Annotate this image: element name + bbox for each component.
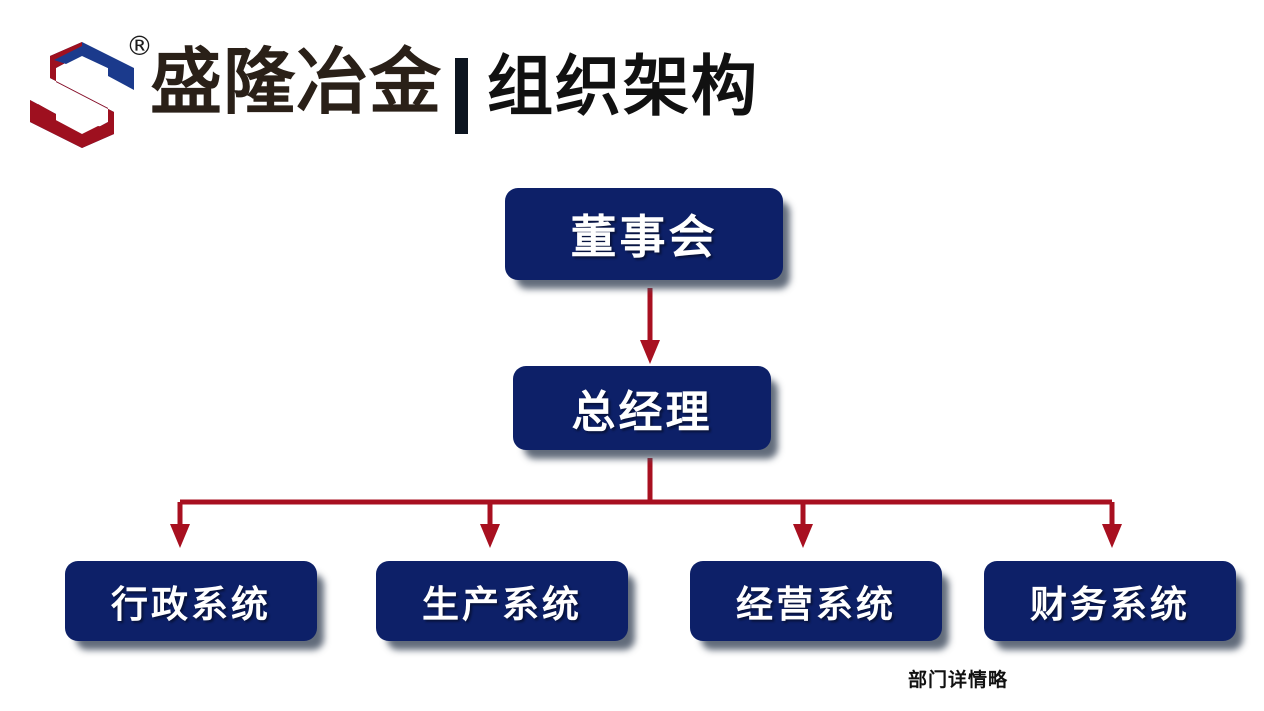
footer-note: 部门详情略 bbox=[908, 671, 1008, 690]
org-node-general-manager-label: 总经理 bbox=[572, 376, 713, 440]
arrowhead-admin bbox=[170, 524, 190, 548]
org-node-production-label: 生产系统 bbox=[422, 574, 582, 628]
org-node-finance-label: 财务系统 bbox=[1030, 574, 1190, 628]
org-node-general-manager[interactable]: 总经理 bbox=[513, 366, 771, 450]
page-header: ® 盛隆冶金 组织架构 bbox=[0, 0, 1264, 170]
org-node-operations[interactable]: 经营系统 bbox=[690, 561, 942, 641]
org-node-board[interactable]: 董事会 bbox=[505, 188, 783, 280]
org-node-finance[interactable]: 财务系统 bbox=[984, 561, 1236, 641]
org-node-admin[interactable]: 行政系统 bbox=[65, 561, 317, 641]
title-divider bbox=[455, 58, 468, 134]
org-node-board-label: 董事会 bbox=[571, 201, 718, 267]
org-node-operations-label: 经营系统 bbox=[736, 574, 896, 628]
arrowhead-finance bbox=[1102, 524, 1122, 548]
company-name: 盛隆冶金 bbox=[150, 47, 442, 119]
arrowhead-operations bbox=[793, 524, 813, 548]
org-node-production[interactable]: 生产系统 bbox=[376, 561, 628, 641]
arrowhead-production bbox=[480, 524, 500, 548]
registered-trademark-icon: ® bbox=[126, 33, 153, 60]
page-title: 组织架构 bbox=[487, 53, 759, 119]
shenglong-logo-icon bbox=[22, 38, 142, 150]
org-node-admin-label: 行政系统 bbox=[111, 574, 271, 628]
arrowhead-gm bbox=[640, 340, 660, 364]
